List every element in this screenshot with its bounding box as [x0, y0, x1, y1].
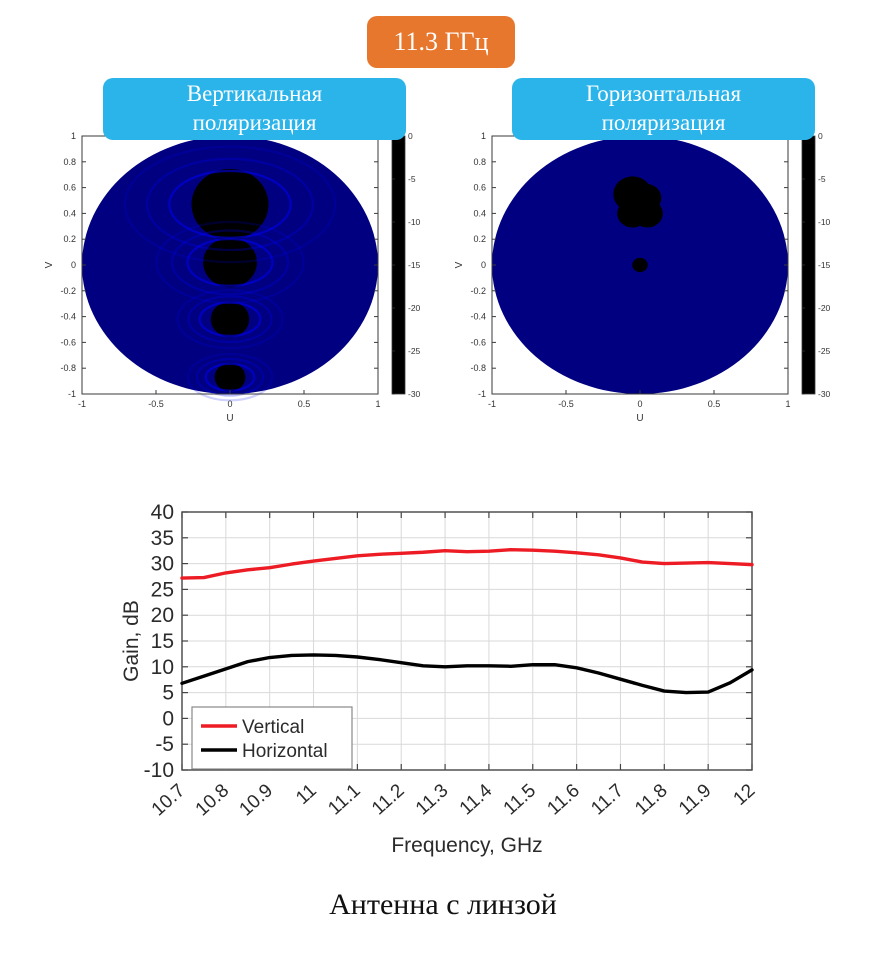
- svg-text:11.1: 11.1: [324, 780, 364, 819]
- svg-text:0.6: 0.6: [473, 183, 486, 193]
- uv-heatmap-horizontal-svg: -1-0.8-0.6-0.4-0.200.20.40.60.81-1-0.500…: [444, 128, 864, 428]
- svg-text:-0.8: -0.8: [60, 363, 76, 373]
- svg-text:Frequency, GHz: Frequency, GHz: [391, 834, 542, 857]
- svg-text:12: 12: [730, 780, 760, 810]
- svg-text:1: 1: [785, 399, 790, 409]
- svg-text:1: 1: [481, 131, 486, 141]
- svg-text:0: 0: [481, 260, 486, 270]
- svg-text:-0.4: -0.4: [60, 312, 76, 322]
- svg-text:-0.5: -0.5: [558, 399, 574, 409]
- vertical-polarization-title-line1: Вертикальная: [187, 80, 322, 109]
- svg-text:0.8: 0.8: [63, 157, 76, 167]
- svg-text:-0.5: -0.5: [148, 399, 164, 409]
- gain-frequency-chart-svg: 4035302520151050-5-1010.710.810.91111.11…: [120, 500, 780, 860]
- svg-text:-30: -30: [818, 389, 831, 399]
- vertical-polarization-title-line2: поляризация: [187, 109, 322, 138]
- svg-text:-0.8: -0.8: [470, 363, 486, 373]
- svg-text:0: 0: [818, 131, 823, 141]
- svg-text:0.4: 0.4: [63, 208, 76, 218]
- svg-text:-15: -15: [818, 260, 831, 270]
- horizontal-polarization-title-line2: поляризация: [586, 109, 741, 138]
- svg-text:-5: -5: [818, 174, 826, 184]
- svg-text:0.5: 0.5: [708, 399, 721, 409]
- vertical-polarization-title-badge: Вертикальная поляризация: [103, 78, 406, 140]
- svg-text:11.3: 11.3: [412, 780, 452, 819]
- svg-text:-10: -10: [408, 217, 421, 227]
- svg-text:-10: -10: [144, 759, 174, 782]
- svg-text:-5: -5: [408, 174, 416, 184]
- svg-text:0.2: 0.2: [63, 234, 76, 244]
- svg-text:0.6: 0.6: [63, 183, 76, 193]
- svg-text:-20: -20: [818, 303, 831, 313]
- svg-text:U: U: [636, 413, 643, 424]
- svg-text:35: 35: [151, 527, 174, 550]
- svg-text:-25: -25: [818, 346, 831, 356]
- svg-text:11.4: 11.4: [456, 780, 497, 820]
- gain-frequency-chart: 4035302520151050-5-1010.710.810.91111.11…: [120, 500, 780, 860]
- svg-text:10: 10: [151, 656, 174, 679]
- svg-text:V: V: [454, 261, 465, 268]
- svg-text:V: V: [44, 261, 55, 268]
- svg-text:Horizontal: Horizontal: [242, 741, 328, 762]
- svg-text:-0.2: -0.2: [60, 286, 76, 296]
- horizontal-polarization-title-badge: Горизонтальная поляризация: [512, 78, 815, 140]
- frequency-badge-label: 11.3 ГГц: [393, 27, 488, 57]
- svg-text:11.2: 11.2: [368, 780, 408, 819]
- svg-text:-0.4: -0.4: [470, 312, 486, 322]
- svg-text:-0.6: -0.6: [60, 337, 76, 347]
- svg-text:U: U: [226, 413, 233, 424]
- horizontal-polarization-title-line1: Горизонтальная: [586, 80, 741, 109]
- svg-text:-10: -10: [818, 217, 831, 227]
- svg-text:11.9: 11.9: [675, 780, 715, 819]
- svg-text:40: 40: [151, 501, 174, 524]
- svg-text:-1: -1: [488, 399, 496, 409]
- svg-text:-20: -20: [408, 303, 421, 313]
- uv-heatmap-horizontal: -1-0.8-0.6-0.4-0.200.20.40.60.81-1-0.500…: [444, 128, 864, 428]
- svg-text:10.7: 10.7: [148, 780, 190, 820]
- svg-text:Gain, dB: Gain, dB: [120, 600, 143, 682]
- svg-text:0.5: 0.5: [298, 399, 311, 409]
- svg-text:20: 20: [151, 604, 174, 627]
- svg-text:-0.2: -0.2: [470, 286, 486, 296]
- uv-heatmap-vertical-svg: -1-0.8-0.6-0.4-0.200.20.40.60.81-1-0.500…: [34, 128, 454, 428]
- svg-text:11.7: 11.7: [587, 780, 627, 819]
- figure-caption: Антенна с линзой: [0, 888, 886, 922]
- svg-text:11: 11: [292, 780, 321, 809]
- svg-text:0.8: 0.8: [473, 157, 486, 167]
- svg-text:10.8: 10.8: [192, 780, 234, 820]
- svg-text:-30: -30: [408, 389, 421, 399]
- svg-text:-1: -1: [478, 389, 486, 399]
- svg-text:0: 0: [162, 707, 174, 730]
- svg-text:-1: -1: [78, 399, 86, 409]
- svg-text:15: 15: [151, 630, 174, 653]
- svg-text:0: 0: [71, 260, 76, 270]
- svg-text:-1: -1: [68, 389, 76, 399]
- svg-text:11.8: 11.8: [631, 780, 671, 819]
- svg-text:1: 1: [71, 131, 76, 141]
- svg-text:10.9: 10.9: [236, 780, 278, 820]
- svg-text:0: 0: [408, 131, 413, 141]
- svg-text:-5: -5: [155, 733, 174, 756]
- uv-heatmap-vertical: -1-0.8-0.6-0.4-0.200.20.40.60.81-1-0.500…: [34, 128, 454, 428]
- svg-text:0.2: 0.2: [473, 234, 486, 244]
- svg-text:25: 25: [151, 578, 174, 601]
- svg-text:30: 30: [151, 553, 174, 576]
- svg-text:Vertical: Vertical: [242, 717, 304, 738]
- svg-text:-25: -25: [408, 346, 421, 356]
- svg-text:0.4: 0.4: [473, 208, 486, 218]
- frequency-badge: 11.3 ГГц: [367, 16, 515, 68]
- svg-text:0: 0: [637, 399, 642, 409]
- svg-text:-0.6: -0.6: [470, 337, 486, 347]
- svg-text:5: 5: [162, 682, 174, 705]
- svg-text:1: 1: [375, 399, 380, 409]
- svg-text:-15: -15: [408, 260, 421, 270]
- svg-text:11.6: 11.6: [543, 780, 583, 819]
- svg-text:11.5: 11.5: [500, 780, 540, 819]
- svg-text:0: 0: [227, 399, 232, 409]
